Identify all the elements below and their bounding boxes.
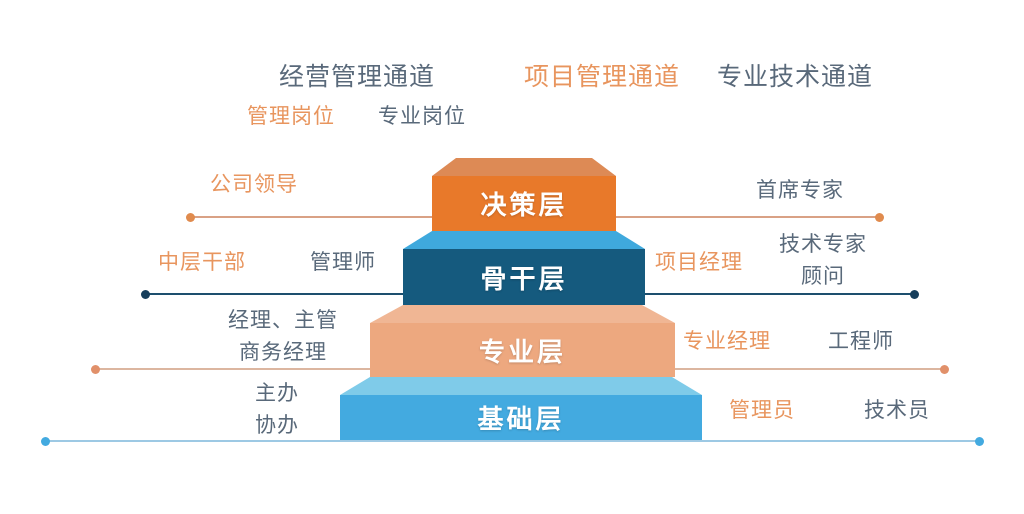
role-right-engineer: 工程师	[828, 329, 894, 355]
tier-top-face-backbone	[403, 231, 645, 249]
line-dot-left	[91, 365, 100, 374]
subchannel-professional-post: 专业岗位	[378, 104, 466, 130]
tier-top-face-foundation	[340, 377, 702, 395]
tier-label-foundation: 基础层	[477, 399, 564, 436]
role-right-technician: 技术员	[864, 398, 930, 424]
channel-title-project: 项目管理通道	[524, 62, 680, 93]
subchannel-management-post: 管理岗位	[247, 104, 335, 130]
role-right-administrator: 管理员	[729, 398, 795, 424]
role-right-chief-expert: 首席专家	[756, 178, 844, 204]
tier-body-decision: 决策层	[432, 176, 616, 231]
pyramid-tier-foundation: 基础层	[340, 377, 702, 440]
line-dot-right	[975, 437, 984, 446]
role-left-co-organizer: 协办	[255, 413, 299, 439]
tier-top-face-professional	[370, 305, 675, 323]
role-left-manager-supervisor: 经理、主管	[228, 308, 338, 334]
career-ladder-diagram: 经营管理通道 项目管理通道 专业技术通道 管理岗位 专业岗位 基础层	[0, 0, 1024, 514]
role-left-middle-cadre: 中层干部	[158, 250, 246, 276]
role-right-consultant: 顾问	[801, 264, 845, 290]
connector-line-foundation	[45, 440, 980, 442]
tier-label-backbone: 骨干层	[480, 259, 567, 296]
tier-body-foundation: 基础层	[340, 395, 702, 440]
line-dot-right	[910, 290, 919, 299]
line-bar	[45, 440, 980, 442]
channel-title-management: 经营管理通道	[279, 62, 435, 93]
line-dot-right	[875, 213, 884, 222]
role-right-professional-manager: 专业经理	[683, 329, 771, 355]
line-dot-left	[141, 290, 150, 299]
role-left-organizer: 主办	[255, 381, 299, 407]
line-dot-left	[186, 213, 195, 222]
line-dot-right	[940, 365, 949, 374]
pyramid-tier-backbone: 骨干层	[403, 231, 645, 305]
tier-label-professional: 专业层	[479, 332, 566, 369]
role-left-business-manager: 商务经理	[239, 340, 327, 366]
tier-body-professional: 专业层	[370, 323, 675, 377]
tier-label-decision: 决策层	[480, 185, 567, 222]
role-right-tech-expert: 技术专家	[779, 232, 867, 258]
pyramid-tier-decision: 决策层	[432, 158, 616, 231]
role-right-project-manager: 项目经理	[655, 250, 743, 276]
tier-top-face-decision	[432, 158, 616, 176]
tier-body-backbone: 骨干层	[403, 249, 645, 305]
pyramid-tier-professional: 专业层	[370, 305, 675, 377]
role-left-manager-pro: 管理师	[310, 250, 376, 276]
channel-title-technical: 专业技术通道	[717, 62, 873, 93]
role-left-company-leader: 公司领导	[210, 172, 298, 198]
line-dot-left	[41, 437, 50, 446]
